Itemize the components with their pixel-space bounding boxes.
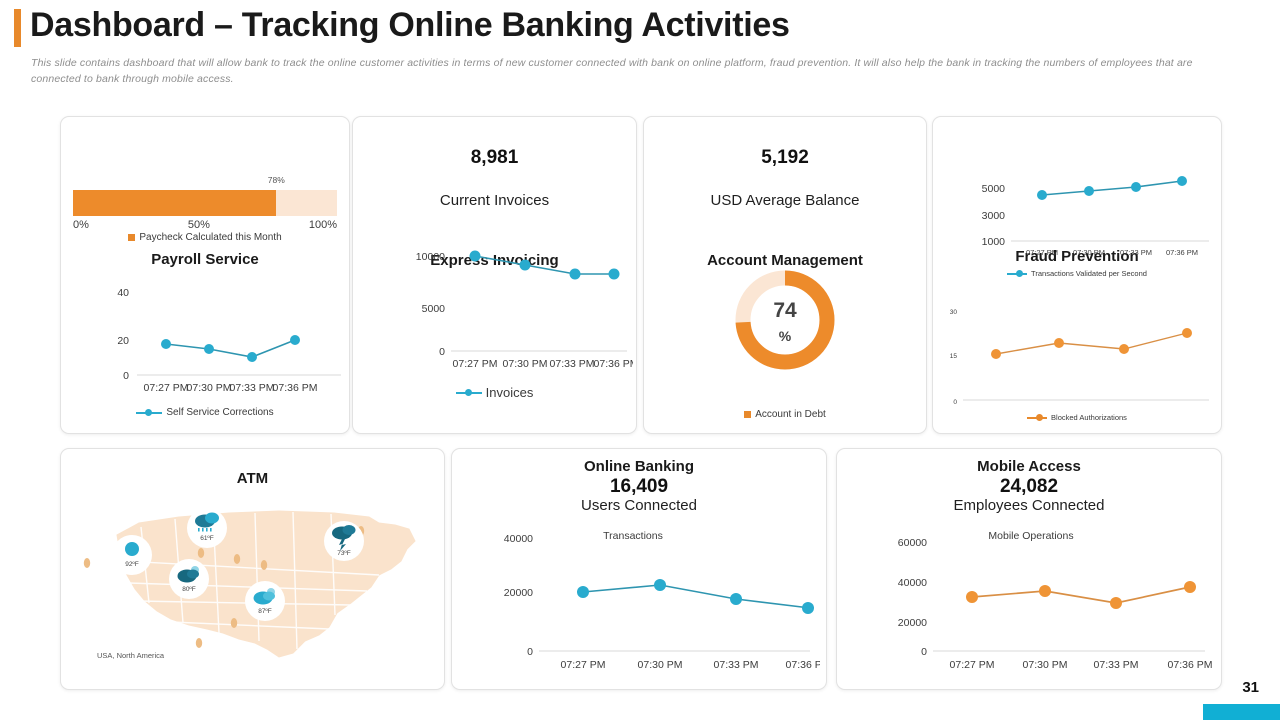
legend-line-icon [1007,273,1027,275]
map-caption: USA, North America [97,651,164,660]
y-tick-0: 0 [527,646,533,658]
series-line [475,256,614,274]
legend-transactions-validated: Transactions Validated per Second [933,269,1221,278]
x-tick-2: 07:33 PM [714,659,759,671]
data-point [520,260,531,271]
tick-100: 100% [309,219,337,231]
y-tick-0: 0 [921,646,927,658]
data-point [730,593,742,605]
card-title-payroll: Payroll Service [61,251,349,268]
mobile-access-line-chart: Mobile Operations 60000 40000 20000 0 07… [845,525,1215,677]
x-tick-2: 07:33 PM [1094,659,1139,671]
data-point [609,269,620,280]
express-big-value: 8,981 [353,147,636,169]
x-tick-0: 07:27 PM [1026,248,1058,257]
x-tick-1: 07:30 PM [1073,248,1105,257]
data-point [802,602,814,614]
usa-map[interactable]: 92ºF 61ºF 73ºF [79,483,429,673]
y-tick-5000: 5000 [982,183,1006,195]
data-point [161,339,171,349]
x-tick-3: 07:36 PM [1166,248,1198,257]
data-point [966,591,978,603]
y-tick-40000: 40000 [504,533,533,545]
legend-label: Paycheck Calculated this Month [139,232,281,243]
legend-line-icon [136,412,162,414]
account-big-value: 5,192 [644,147,926,169]
x-tick-1: 07:30 PM [1023,659,1068,671]
tick-0: 0% [73,219,89,231]
data-point [1037,190,1047,200]
x-tick-3: 07:36 PM [786,659,820,671]
data-point [1119,344,1129,354]
x-tick-0: 07:27 PM [144,382,189,394]
marker-temp: 92ºF [125,561,139,568]
donut-number: 74 [773,299,797,322]
y-tick-30: 30 [950,309,958,316]
card-express-invoicing[interactable]: Express Invoicing 8,981 Current Invoices… [352,116,637,434]
series-line [996,333,1187,354]
y-tick-0: 0 [953,399,957,406]
card-fraud-prevention[interactable]: Fraud Prevention 5000 3000 1000 07:27 PM… [932,116,1222,434]
y-tick-3000: 3000 [982,210,1006,222]
x-tick-3: 07:36 PM [594,358,633,370]
progress-ticks: 0% 50% 100% [73,219,337,231]
series-line [972,587,1190,603]
data-point [1084,186,1094,196]
sun-icon [125,542,139,556]
map-marker-80[interactable]: 80ºF [169,559,209,599]
progress-fill [73,190,276,216]
x-tick-0: 07:27 PM [453,358,498,370]
online-big-value: 16,409 [452,476,826,498]
mobile-big-value: 24,082 [837,476,1221,498]
express-line-chart: 10000 5000 0 07:27 PM 07:30 PM 07:33 PM … [359,237,633,372]
progress-track [73,190,337,216]
page-number: 31 [1242,679,1259,696]
x-tick-1: 07:30 PM [187,382,232,394]
data-point [654,579,666,591]
map-marker-61[interactable]: 61ºF [187,508,227,548]
title-accent-bar [14,9,21,47]
footer-accent-bar [1203,704,1280,720]
data-point [290,335,300,345]
data-point [1054,338,1064,348]
legend-label: Self Service Corrections [166,407,273,418]
donut-unit: % [779,328,792,344]
series-line [1042,181,1182,195]
mobile-sub-label: Employees Connected [837,497,1221,514]
y-tick-10000: 10000 [416,251,445,263]
online-banking-line-chart: Transactions 40000 20000 0 07:27 PM 07:3… [460,525,820,677]
data-point [570,269,581,280]
legend-label: Account in Debt [755,409,826,420]
legend-swatch-icon [744,411,751,418]
legend-account-in-debt: Account in Debt [644,409,926,420]
data-point [1184,581,1196,593]
payroll-progress-bar: 78% 0% 50% 100% [73,190,337,216]
y-tick-20: 20 [117,335,129,347]
y-tick-20000: 20000 [898,617,927,629]
marker-temp: 87ºF [258,608,272,615]
legend-line-icon [1027,417,1047,419]
chart-label: Mobile Operations [988,530,1073,542]
y-tick-0: 0 [439,346,445,358]
account-sub-label: USD Average Balance [644,192,926,209]
fraud-transactions-chart: 5000 3000 1000 07:27 PM 07:30 PM 07:33 P… [939,163,1217,263]
x-tick-0: 07:27 PM [561,659,606,671]
y-tick-40000: 40000 [898,577,927,589]
legend-label: Transactions Validated per Second [1031,269,1147,278]
y-tick-60000: 60000 [898,537,927,549]
fraud-blocked-chart: 30 15 0 07:27 PM 07:30 PM 07:33 PM 07:36… [939,287,1217,407]
x-tick-2: 07:33 PM [230,382,275,394]
payroll-line-chart: 40 20 0 07:27 PM 07:30 PM 07:33 PM 07:36… [69,272,347,407]
data-point [577,586,589,598]
data-point [1039,585,1051,597]
page-title: Dashboard – Tracking Online Banking Acti… [30,6,790,45]
express-sub-label: Current Invoices [353,192,636,209]
series-line [166,340,295,357]
data-point [1182,328,1192,338]
x-tick-2: 07:33 PM [1120,248,1152,257]
y-tick-5000: 5000 [422,303,446,315]
data-point [1131,182,1141,192]
data-point [1110,597,1122,609]
card-online-banking[interactable]: Online Banking 16,409 Users Connected Tr… [451,448,827,690]
marker-temp: 73ºF [337,550,351,557]
legend-invoices: Invoices [353,385,636,400]
x-tick-2: 07:33 PM [550,358,595,370]
card-account-management[interactable]: Account Management 5,192 USD Average Bal… [643,116,927,434]
online-sub-label: Users Connected [452,497,826,514]
payroll-progress-value: 78% [268,175,285,185]
data-point [247,352,257,362]
tick-50: 50% [188,219,210,231]
legend-label: Blocked Authorizations [1051,413,1127,422]
x-tick-3: 07:36 PM [1168,659,1213,671]
y-tick-40: 40 [117,287,129,299]
legend-self-service: Self Service Corrections [61,407,349,418]
data-point [1177,176,1187,186]
account-donut-chart: 74 % [730,265,840,375]
y-tick-0: 0 [123,370,129,382]
data-point [470,251,481,262]
card-payroll-service[interactable]: Payroll Service 78% 0% 50% 100% Paycheck… [60,116,350,434]
marker-temp: 61ºF [200,535,214,542]
x-tick-1: 07:30 PM [638,659,683,671]
legend-swatch-icon [128,234,135,241]
y-tick-1000: 1000 [982,236,1006,248]
card-title-online: Online Banking [452,458,826,475]
series-line [583,585,810,608]
map-marker-87[interactable]: 87ºF [245,581,285,621]
y-tick-20000: 20000 [504,587,533,599]
card-mobile-access[interactable]: Mobile Access 24,082 Employees Connected… [836,448,1222,690]
card-title-mobile: Mobile Access [837,458,1221,475]
x-tick-0: 07:27 PM [950,659,995,671]
legend-paycheck: Paycheck Calculated this Month [61,232,349,243]
page-header: Dashboard – Tracking Online Banking Acti… [0,0,1280,100]
x-tick-1: 07:30 PM [503,358,548,370]
page-subtitle: This slide contains dashboard that will … [31,55,1211,87]
chart-label: Transactions [603,530,663,542]
legend-line-icon [456,392,482,394]
marker-temp: 80ºF [182,586,196,593]
legend-blocked-authorizations: Blocked Authorizations [933,413,1221,422]
legend-label: Invoices [486,385,534,400]
x-tick-3: 07:36 PM [273,382,318,394]
data-point [204,344,214,354]
data-point [991,349,1001,359]
map-marker-73[interactable]: 73ºF [324,521,364,561]
y-tick-15: 15 [950,353,958,360]
card-atm[interactable]: ATM 92ºF [60,448,445,690]
map-marker-92[interactable]: 92ºF [112,535,152,575]
